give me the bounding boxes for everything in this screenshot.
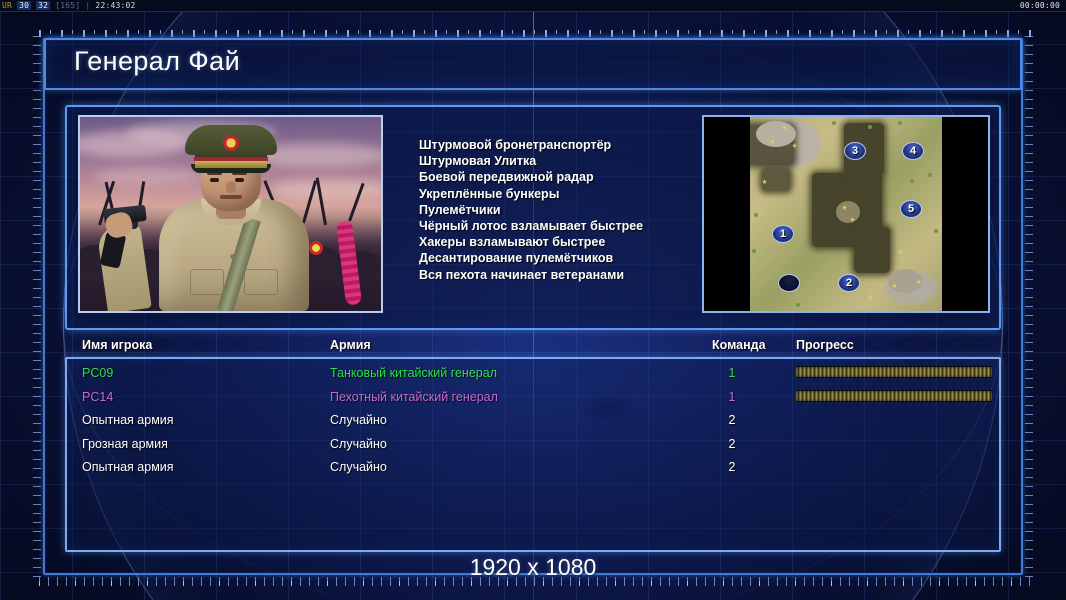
cell-player-name: Грозная армия (82, 437, 168, 451)
cell-army[interactable]: Танковый китайский генерал (330, 366, 497, 380)
minimap-tree (752, 249, 756, 253)
minimap-tree (910, 179, 914, 183)
title-bar: Генерал Фай (44, 38, 1022, 90)
ability-line: Боевой передвижной радар (419, 169, 709, 185)
ability-line: Вся пехота начинает ветеранами (419, 267, 709, 283)
ruler-left (33, 36, 41, 580)
cell-team[interactable]: 2 (722, 437, 742, 451)
ability-line: Пулемётчики (419, 202, 709, 218)
ability-line: Чёрный лотос взламывает быстрее (419, 218, 709, 234)
cell-army[interactable]: Пехотный китайский генерал (330, 390, 498, 404)
minimap-resource (868, 295, 873, 300)
minimap-tree (868, 125, 872, 129)
minimap-start-position[interactable]: 3 (844, 142, 866, 160)
topbar-label: UR (2, 1, 12, 10)
map-preview[interactable]: 12345 (702, 115, 990, 313)
portrait-cap-badge (223, 135, 239, 151)
cell-army[interactable]: Случайно (330, 460, 387, 474)
general-portrait (78, 115, 383, 313)
cell-progress (796, 366, 992, 381)
header-team: Команда (712, 338, 766, 352)
portrait-nose (226, 181, 236, 193)
ability-line: Штурмовой бронетранспортёр (419, 137, 709, 153)
portrait-mouth (220, 195, 242, 199)
cell-army[interactable]: Случайно (330, 437, 387, 451)
table-row[interactable]: PC09Танковый китайский генерал1 (67, 363, 999, 387)
portrait-pocket (190, 269, 224, 295)
ability-line: Укреплённые бункеры (419, 186, 709, 202)
header-army: Армия (330, 338, 371, 352)
topbar-value-1: 30 (17, 1, 31, 10)
topbar-right-clock: 00:00:00 (1020, 0, 1060, 12)
cell-player-name: Опытная армия (82, 460, 174, 474)
minimap-terrain-dark (854, 227, 890, 273)
cell-team[interactable]: 2 (722, 413, 742, 427)
minimap-tree (796, 303, 800, 307)
resolution-label: 1920 x 1080 (0, 554, 1066, 581)
table-row[interactable]: Опытная армияСлучайно2 (67, 457, 999, 481)
table-row[interactable]: PC14Пехотный китайский генерал1 (67, 387, 999, 411)
player-table-header: Имя игрока Армия Команда Прогресс (65, 338, 1001, 358)
cell-team[interactable]: 1 (722, 390, 742, 404)
top-status-bar: UR 30 32 [165] | 22:43:02 00:00:00 (0, 0, 1066, 12)
portrait-eye (210, 178, 219, 182)
progress-bar (796, 390, 992, 402)
minimap-image: 12345 (750, 117, 942, 311)
cell-team[interactable]: 2 (722, 460, 742, 474)
portrait-eye (235, 178, 244, 182)
minimap-start-position[interactable]: 4 (902, 142, 924, 160)
minimap-resource (898, 249, 903, 254)
minimap-start-position-empty[interactable] (778, 274, 800, 292)
general-info-panel: Штурмовой бронетранспортёрШтурмовая Улит… (65, 105, 1001, 330)
table-row[interactable]: Опытная армияСлучайно2 (67, 410, 999, 434)
ability-line: Десантирование пулемётчиков (419, 250, 709, 266)
minimap-tree (898, 121, 902, 125)
progress-bar (796, 366, 992, 378)
portrait-cap-gold-band (195, 161, 267, 168)
portrait-pocket (244, 269, 278, 295)
minimap-start-position[interactable]: 1 (772, 225, 794, 243)
cell-player-name: Опытная армия (82, 413, 174, 427)
topbar-clock: 22:43:02 (95, 1, 135, 10)
cell-player-name: PC09 (82, 366, 113, 380)
minimap-tree (934, 229, 938, 233)
minimap-rock (756, 121, 796, 147)
topbar-value-2: 32 (36, 1, 50, 10)
portrait-cloud (92, 167, 202, 185)
cell-progress (796, 390, 992, 405)
header-progress: Прогресс (796, 338, 854, 352)
portrait-cloud (270, 179, 383, 199)
cell-team[interactable]: 1 (722, 366, 742, 380)
minimap-rock (836, 201, 860, 223)
general-abilities-list: Штурмовой бронетранспортёрШтурмовая Улит… (419, 137, 709, 283)
ruler-top (39, 30, 1033, 37)
ruler-right (1025, 36, 1033, 580)
minimap-start-position[interactable]: 5 (900, 200, 922, 218)
page-title: Генерал Фай (74, 46, 240, 77)
topbar-separator: | (85, 1, 90, 10)
cell-army[interactable]: Случайно (330, 413, 387, 427)
ability-line: Хакеры взламывают быстрее (419, 234, 709, 250)
minimap-terrain-dark (762, 169, 790, 191)
portrait-insignia (309, 241, 323, 255)
ability-line: Штурмовая Улитка (419, 153, 709, 169)
player-list-panel: PC09Танковый китайский генерал1PC14Пехот… (65, 357, 1001, 552)
cell-player-name: PC14 (82, 390, 113, 404)
table-row[interactable]: Грозная армияСлучайно2 (67, 434, 999, 458)
topbar-bracket-value: [165] (55, 1, 80, 10)
header-player-name: Имя игрока (82, 338, 152, 352)
minimap-tree (928, 173, 932, 177)
minimap-start-position[interactable]: 2 (838, 274, 860, 292)
minimap-tree (754, 213, 758, 217)
minimap-tree (832, 121, 836, 125)
